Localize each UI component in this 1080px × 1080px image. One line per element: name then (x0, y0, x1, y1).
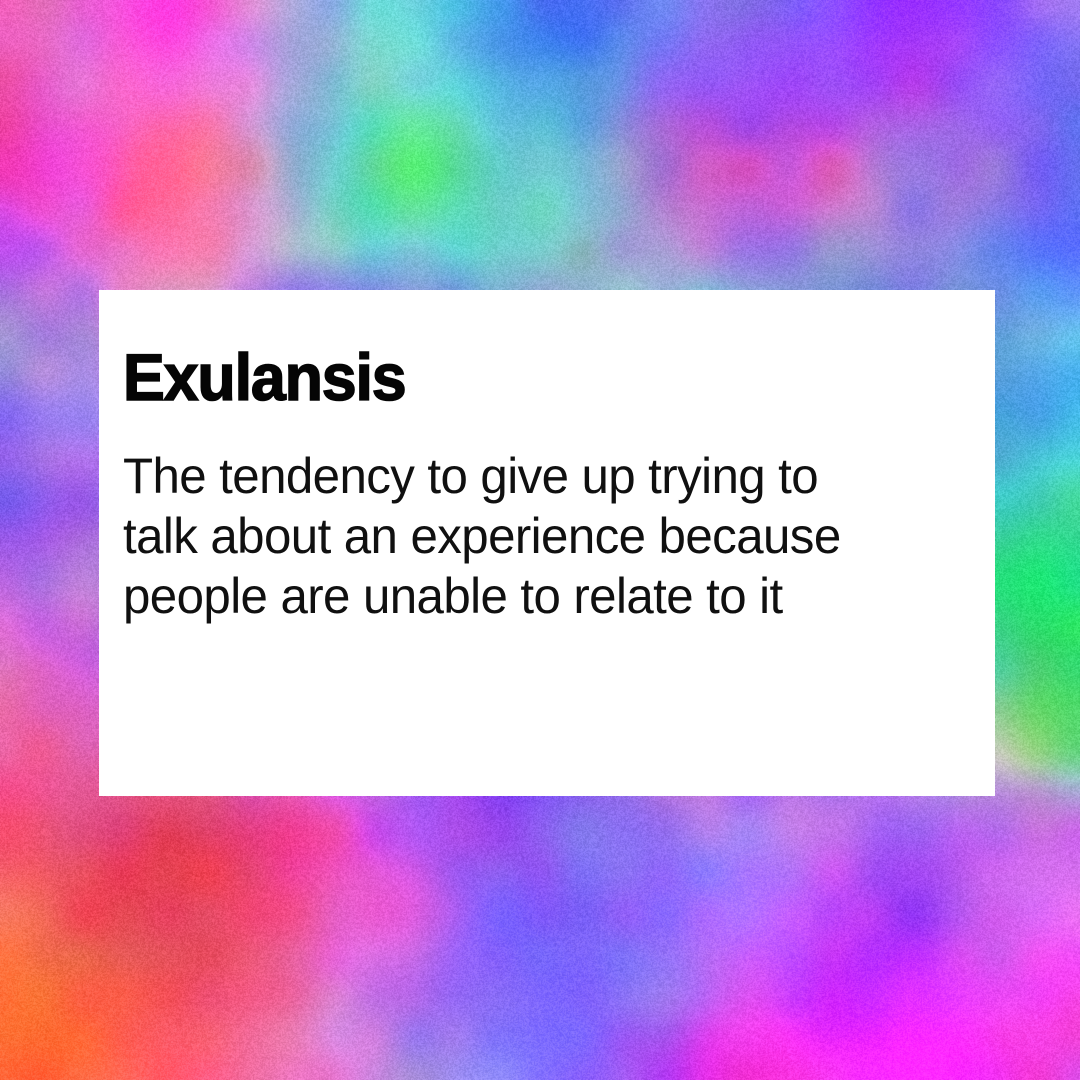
word-title: Exulansis (123, 344, 912, 410)
definition-card: Exulansis The tendency to give up trying… (99, 290, 995, 796)
word-definition: The tendency to give up trying to talk a… (123, 446, 941, 626)
card-content: Exulansis The tendency to give up trying… (123, 344, 953, 626)
definition-card-image: Exulansis The tendency to give up trying… (0, 0, 1080, 1080)
